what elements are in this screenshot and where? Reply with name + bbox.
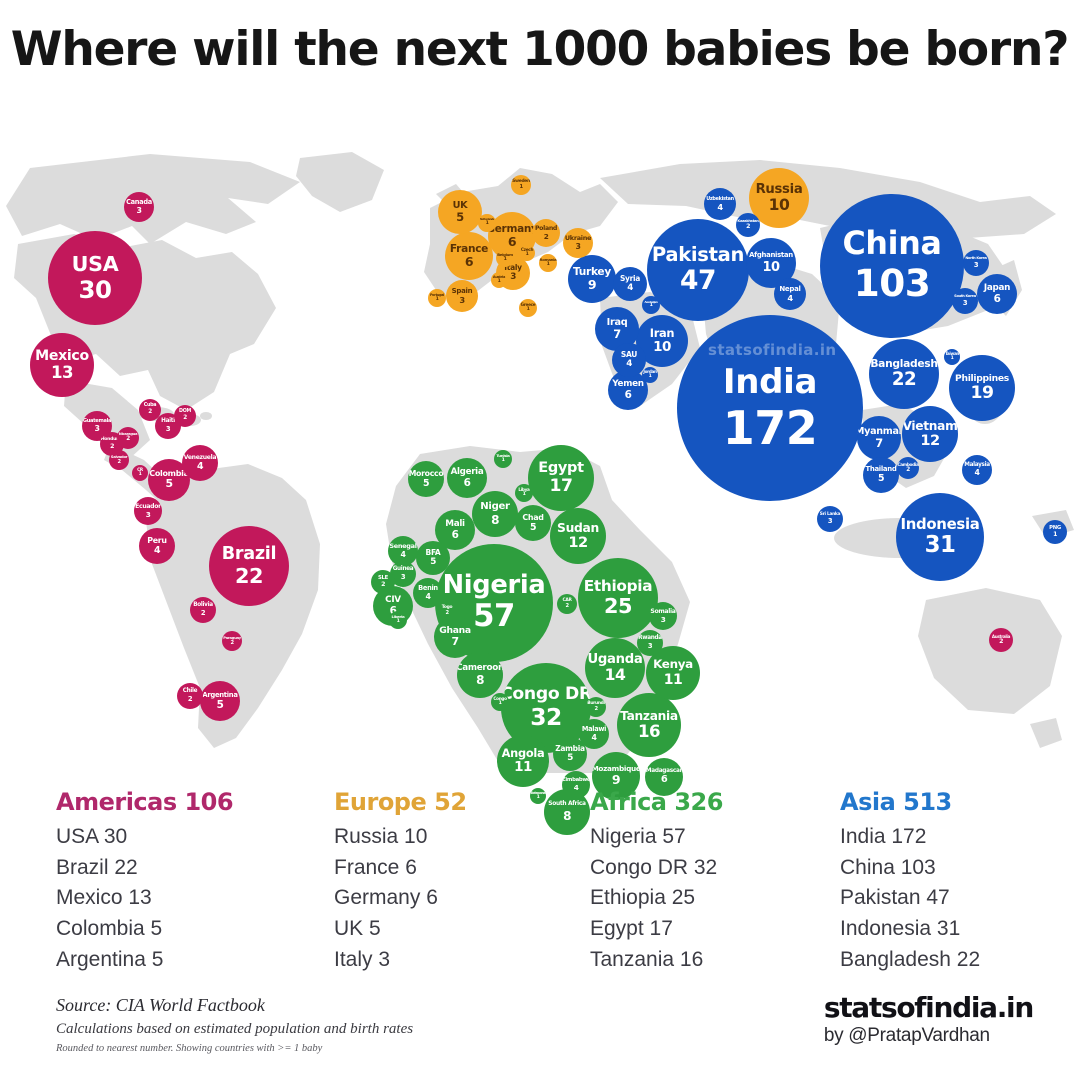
bubble-chile[interactable]: Chile2	[177, 683, 203, 709]
legend-item: Indonesia 31	[840, 914, 1079, 945]
bubble-value: 47	[680, 268, 716, 295]
bubble-label: SAU	[621, 351, 637, 359]
legend-item: Russia 10	[334, 822, 584, 853]
bubble-label: Japan	[984, 284, 1010, 293]
bubble-cr[interactable]: CR1	[132, 465, 148, 481]
bubble-value: 1	[436, 298, 439, 303]
legend-item: Tanzania 16	[590, 945, 840, 976]
bubble-value: 25	[604, 596, 632, 617]
bubble-value: 3	[648, 643, 652, 650]
bubble-value: 2	[544, 233, 549, 240]
bubble-brazil[interactable]: Brazil22	[209, 526, 289, 606]
bubble-label: India	[723, 365, 817, 399]
bubble-label: Yemen	[612, 380, 643, 389]
bubble-value: 1	[397, 620, 400, 625]
bubble-value: 2	[746, 224, 750, 230]
bubble-value: 2	[594, 707, 597, 712]
bubble-value: 1	[951, 357, 954, 362]
legend-item: India 172	[840, 822, 1079, 853]
bubble-togo[interactable]: Togo2	[437, 601, 457, 621]
bubble-label: China	[842, 229, 941, 261]
bubble-value: 7	[451, 637, 458, 648]
bubble-rwanda[interactable]: Rwanda3	[637, 630, 663, 656]
bubble-japan[interactable]: Japan6	[977, 274, 1017, 314]
bubble-value: 6	[508, 236, 516, 249]
bubble-value: 3	[459, 296, 464, 304]
bubble-bolivia[interactable]: Bolivia2	[190, 597, 216, 623]
bubble-paraguay[interactable]: Paraguay2	[222, 631, 242, 651]
bubble-philippines[interactable]: Philippines19	[949, 355, 1015, 421]
legend-item: Mexico 13	[56, 883, 306, 914]
bubble-value: 6	[464, 478, 471, 488]
bubble-label: Brazil	[222, 546, 276, 564]
brand-block: statsofindia.in by @PratapVardhan	[824, 991, 1033, 1047]
bubble-romania[interactable]: Romania1	[539, 254, 557, 272]
bubble-value: 11	[514, 761, 532, 775]
bubble-austria[interactable]: Austria1	[491, 272, 507, 288]
bubble-congo[interactable]: Congo1	[491, 693, 509, 711]
bubble-value: 9	[588, 279, 596, 292]
bubble-label: Venezuela	[184, 455, 217, 461]
bubble-value: 4	[426, 593, 431, 601]
bubble-value: 103	[854, 265, 931, 302]
legend-column-africa: Africa 326Nigeria 57Congo DR 32Ethiopia …	[590, 788, 840, 975]
bubble-label: Benin	[418, 585, 438, 592]
bubble-cameroon[interactable]: Cameroon8	[457, 652, 503, 698]
bubble-vietnam[interactable]: Vietnam12	[902, 406, 958, 462]
bubble-value: 3	[95, 425, 100, 433]
bubble-value: 1	[502, 459, 505, 464]
bubble-label: Ukraine	[565, 235, 591, 242]
calculation-note: Calculations based on estimated populati…	[56, 1021, 413, 1038]
bubble-label: France	[450, 244, 488, 255]
legend-item: Ethiopia 25	[590, 883, 840, 914]
bubble-portugal[interactable]: Portugal1	[428, 289, 446, 307]
bubble-label: Zambia	[555, 745, 585, 753]
bubble-label: Sudan	[557, 522, 599, 534]
bubble-label: Iran	[650, 328, 674, 339]
bubble-thailand[interactable]: Thailand5	[863, 457, 899, 493]
bubble-china[interactable]: China103	[820, 194, 964, 338]
bubble-algeria[interactable]: Algeria6	[447, 458, 487, 498]
bubble-value: 3	[146, 511, 151, 518]
bubble-value: 1	[139, 473, 142, 478]
legend-item: Pakistan 47	[840, 883, 1079, 914]
bubble-value: 6	[625, 390, 632, 400]
bubble-value: 4	[197, 462, 203, 471]
bubble-libya[interactable]: Libya1	[515, 484, 533, 502]
bubble-somalia[interactable]: Somalia3	[649, 602, 677, 630]
bubble-value: 2	[148, 410, 151, 416]
bubble-kazakhstan[interactable]: Kazakhstan2	[736, 213, 760, 237]
bubble-value: 19	[971, 385, 994, 402]
bubble-value: 7	[613, 329, 620, 340]
legend-column-europe: Europe 52Russia 10France 6Germany 6UK 5I…	[334, 788, 584, 975]
bubble-value: 2	[906, 468, 909, 474]
bubble-label: Peru	[147, 537, 166, 545]
bubble-value: 13	[51, 365, 73, 382]
bubble-label: Indonesia	[900, 517, 979, 532]
bubble-value: 32	[530, 706, 562, 729]
bubble-label: Senegal	[389, 543, 416, 550]
bubble-label: Vietnam	[903, 420, 958, 432]
bubble-label: Thailand	[865, 466, 896, 473]
bubble-liberia[interactable]: Liberia1	[389, 611, 407, 629]
bubble-bangladesh[interactable]: Bangladesh22	[869, 339, 939, 409]
bubble-value: 2	[117, 460, 120, 465]
region-legend: Americas 106USA 30Brazil 22Mexico 13Colo…	[0, 788, 1079, 963]
bubble-value: 2	[188, 696, 192, 703]
bubble-poland[interactable]: Poland2	[532, 219, 560, 247]
bubble-label: Nigeria	[443, 573, 546, 599]
bubble-sle[interactable]: SLE2	[371, 570, 395, 594]
bubble-label: CIV	[385, 596, 401, 605]
bubble-label: Afghanistan	[749, 252, 793, 259]
bubble-spain[interactable]: Spain3	[446, 280, 478, 312]
bubble-value: 1	[1053, 532, 1057, 538]
bubble-myanmar[interactable]: Myanmar7	[857, 416, 901, 460]
bubble-azerbaijan[interactable]: Azerbaijan1	[642, 296, 660, 314]
bubble-turkey[interactable]: Turkey9	[568, 255, 616, 303]
bubble-value: 6	[452, 530, 459, 540]
bubble-value: 7	[875, 438, 882, 449]
bubble-value: 2	[126, 437, 129, 443]
bubble-value: 1	[526, 253, 529, 258]
bubble-value: 4	[975, 469, 980, 477]
bubble-value: 2	[381, 582, 385, 588]
bubble-label: Mexico	[35, 349, 89, 363]
bubble-value: 2	[999, 639, 1003, 645]
bubble-label: Algeria	[451, 468, 484, 477]
bubble-taiwan[interactable]: Taiwan1	[944, 349, 960, 365]
bubble-cambodia[interactable]: Cambodia2	[897, 457, 919, 479]
bubble-value: 5	[878, 474, 884, 483]
bubble-ecuador[interactable]: Ecuador3	[134, 497, 162, 525]
bubble-label: Turkey	[573, 267, 611, 278]
bubble-value: 16	[638, 724, 660, 741]
bubble-syria[interactable]: Syria4	[613, 267, 647, 301]
bubble-dom[interactable]: DOM2	[174, 405, 196, 427]
bubble-value: 1	[486, 222, 489, 227]
bubble-label: Russia	[756, 183, 803, 196]
legend-item: Germany 6	[334, 883, 584, 914]
bubble-sri-lanka[interactable]: Sri Lanka3	[817, 506, 843, 532]
legend-item: Argentina 5	[56, 945, 306, 976]
legend-item: Bangladesh 22	[840, 945, 1079, 976]
bubble-value: 4	[717, 203, 722, 211]
bubble-tunisia[interactable]: Tunisia1	[494, 450, 512, 468]
bubble-value: 3	[661, 616, 666, 623]
bubble-salvador[interactable]: Salvador2	[109, 450, 129, 470]
legend-item: Italy 3	[334, 945, 584, 976]
footer: Source: CIA World Factbook Calculations …	[0, 995, 1079, 1065]
legend-item: China 103	[840, 853, 1079, 884]
bubble-sudan[interactable]: Sudan12	[550, 508, 606, 564]
bubble-argentina[interactable]: Argentina5	[200, 681, 240, 721]
bubble-value: 10	[653, 341, 671, 355]
bubble-value: 3	[510, 273, 516, 282]
bubble-value: 172	[723, 405, 818, 451]
bubble-angola[interactable]: Angola11	[497, 735, 549, 787]
bubble-value: 22	[892, 371, 916, 389]
bubble-value: 5	[430, 558, 436, 567]
bubble-nepal[interactable]: Nepal4	[774, 278, 806, 310]
bubble-value: 10	[769, 198, 790, 214]
bubble-mexico[interactable]: Mexico13	[30, 333, 94, 397]
bubble-czech[interactable]: Czech1	[519, 245, 535, 261]
bubble-value: 2	[201, 610, 205, 617]
bubble-value: 5	[530, 523, 536, 532]
bubble-label: Uganda	[588, 653, 643, 666]
bubble-map: India172China103Nigeria57Pakistan47USA30…	[0, 148, 1079, 773]
bubble-netherlands[interactable]: Netherlands1	[478, 214, 496, 232]
legend-item: UK 5	[334, 914, 584, 945]
bubble-label: Myanmar	[857, 427, 901, 437]
legend-item: Colombia 5	[56, 914, 306, 945]
bubble-value: 9	[612, 774, 620, 787]
bubble-malawi[interactable]: Malawi4	[579, 719, 609, 749]
bubble-label: Egypt	[538, 461, 584, 476]
bubble-label: Ethiopia	[584, 579, 653, 594]
bubble-value: 5	[567, 754, 573, 763]
bubble-sweden[interactable]: Sweden1	[511, 175, 531, 195]
bubble-label: Canada	[126, 199, 152, 206]
bubble-value: 1	[523, 493, 526, 498]
bubble-label: Syria	[620, 275, 640, 283]
bubble-greece[interactable]: Greece1	[519, 299, 537, 317]
bubble-venezuela[interactable]: Venezuela4	[182, 445, 218, 481]
legend-column-americas: Americas 106USA 30Brazil 22Mexico 13Colo…	[56, 788, 306, 975]
bubble-bfa[interactable]: BFA5	[416, 541, 450, 575]
bubble-label: Nepal	[779, 286, 800, 293]
legend-item: Egypt 17	[590, 914, 840, 945]
bubble-value: 1	[547, 263, 550, 268]
legend-heading-americas: Americas 106	[56, 788, 306, 816]
bubble-ethiopia[interactable]: Ethiopia25	[578, 558, 658, 638]
bubble-malaysia[interactable]: Malaysia4	[962, 455, 992, 485]
bubble-value: 5	[217, 700, 224, 710]
bubble-value: 11	[664, 673, 682, 687]
bubble-usa[interactable]: USA30	[48, 231, 142, 325]
bubble-label: Malawi	[582, 726, 606, 733]
bubble-value: 3	[166, 426, 170, 433]
bubble-value: 5	[456, 212, 463, 223]
bubble-nicaragua[interactable]: Nicaragua2	[117, 427, 139, 449]
bubble-value: 2	[230, 641, 233, 646]
bubble-label: Spain	[452, 288, 473, 295]
bubble-tanzania[interactable]: Tanzania16	[617, 693, 681, 757]
bubble-canada[interactable]: Canada3	[124, 192, 154, 222]
bubble-value: 4	[592, 734, 597, 742]
page-title: Where will the next 1000 babies be born?	[0, 22, 1079, 77]
bubble-label: Cameroon	[457, 664, 503, 673]
bubble-value: 6	[994, 294, 1001, 304]
bubble-value: 1	[504, 258, 507, 263]
bubble-label: Bangladesh	[870, 359, 937, 370]
bubble-value: 14	[605, 668, 626, 684]
bubble-value: 4	[401, 551, 406, 559]
brand-name: statsofindia.in	[824, 991, 1033, 1024]
legend-heading-asia: Asia 513	[840, 788, 1079, 816]
legend-item: France 6	[334, 853, 584, 884]
bubble-label: Morocco	[409, 470, 444, 478]
bubble-label: Chad	[522, 514, 543, 522]
bubble-burundi[interactable]: Burundi2	[586, 697, 606, 717]
bubble-value: 4	[787, 294, 792, 302]
legend-item: Brazil 22	[56, 853, 306, 884]
bubble-value: 5	[165, 479, 172, 490]
bubble-north-korea[interactable]: North Korea3	[963, 250, 989, 276]
bubble-value: 8	[491, 514, 499, 526]
bubble-value: 3	[974, 262, 978, 269]
bubble-label: Pakistan	[652, 245, 744, 265]
bubble-value: 30	[79, 278, 112, 302]
bubble-value: 4	[626, 360, 632, 369]
bubble-label: Mali	[445, 520, 465, 529]
bubble-australia[interactable]: Australia2	[989, 628, 1013, 652]
bubble-value: 6	[661, 775, 667, 785]
bubble-value: 1	[527, 308, 530, 313]
bubble-india[interactable]: India172	[677, 315, 863, 501]
bubble-value: 4	[627, 284, 633, 293]
bubble-value: 3	[963, 300, 967, 307]
bubble-value: 10	[762, 261, 779, 274]
bubble-belgium[interactable]: Belgium1	[496, 249, 514, 267]
bubble-value: 1	[499, 702, 502, 707]
bubble-value: 1	[519, 185, 522, 190]
bubble-value: 12	[568, 536, 587, 551]
bubble-label: Philippines	[955, 374, 1009, 383]
bubble-value: 31	[925, 534, 956, 557]
fineprint-note: Rounded to nearest number. Showing count…	[56, 1043, 322, 1054]
bubble-label: Niger	[480, 502, 509, 512]
bubble-label: Congo DR	[501, 686, 591, 703]
source-line: Source: CIA World Factbook	[56, 995, 265, 1016]
bubble-png[interactable]: PNG1	[1043, 520, 1067, 544]
brand-author: by @PratapVardhan	[824, 1025, 1033, 1047]
bubble-value: 1	[498, 280, 501, 285]
bubble-ghana[interactable]: Ghana7	[434, 616, 476, 658]
bubble-label: USA	[72, 254, 119, 275]
bubble-uzbekistan[interactable]: Uzbekistan4	[704, 188, 736, 220]
legend-item: USA 30	[56, 822, 306, 853]
bubble-value: 2	[565, 604, 568, 609]
bubble-value: 5	[423, 479, 429, 488]
bubble-value: 1	[650, 304, 653, 309]
bubble-layer: India172China103Nigeria57Pakistan47USA30…	[0, 148, 1079, 773]
bubble-peru[interactable]: Peru4	[139, 528, 175, 564]
bubble-label: Angola	[502, 748, 545, 759]
bubble-label: Tanzania	[620, 710, 678, 722]
bubble-uganda[interactable]: Uganda14	[585, 638, 645, 698]
bubble-value: 2	[110, 444, 114, 450]
bubble-egypt[interactable]: Egypt17	[528, 445, 594, 511]
bubble-sau[interactable]: SAU4	[612, 343, 646, 377]
legend-heading-europe: Europe 52	[334, 788, 584, 816]
bubble-value: 3	[828, 518, 832, 525]
bubble-label: Argentina	[202, 692, 237, 699]
bubble-value: 17	[550, 478, 573, 495]
legend-heading-africa: Africa 326	[590, 788, 840, 816]
legend-column-asia: Asia 513India 172China 103Pakistan 47Ind…	[840, 788, 1079, 975]
bubble-niger[interactable]: Niger8	[472, 491, 518, 537]
bubble-jordan[interactable]: Jordan1	[642, 367, 658, 383]
bubble-value: 12	[920, 434, 939, 449]
bubble-value: 22	[235, 566, 263, 587]
bubble-value: 4	[154, 546, 160, 555]
bubble-label: Kenya	[653, 659, 693, 671]
legend-item: Congo DR 32	[590, 853, 840, 884]
bubble-car[interactable]: CAR2	[557, 594, 577, 614]
bubble-label: BFA	[426, 549, 441, 557]
bubble-indonesia[interactable]: Indonesia31	[896, 493, 984, 581]
bubble-morocco[interactable]: Morocco5	[408, 461, 444, 497]
bubble-value: 3	[137, 207, 142, 215]
bubble-value: 2	[445, 611, 448, 616]
bubble-france[interactable]: France6	[445, 232, 493, 280]
bubble-cuba[interactable]: Cuba2	[139, 399, 161, 421]
bubble-value: 57	[473, 602, 515, 633]
bubble-value: 2	[183, 416, 186, 422]
bubble-value: 6	[465, 256, 473, 269]
bubble-value: 1	[649, 375, 652, 380]
bubble-chad[interactable]: Chad5	[515, 505, 551, 541]
bubble-uk[interactable]: UK5	[438, 190, 482, 234]
bubble-pakistan[interactable]: Pakistan47	[647, 219, 749, 321]
bubble-value: 3	[401, 574, 405, 581]
bubble-ukraine[interactable]: Ukraine3	[563, 228, 593, 258]
bubble-south-korea[interactable]: South Korea3	[952, 288, 978, 314]
bubble-value: 8	[476, 674, 484, 686]
legend-item: Nigeria 57	[590, 822, 840, 853]
bubble-value: 3	[576, 243, 581, 251]
